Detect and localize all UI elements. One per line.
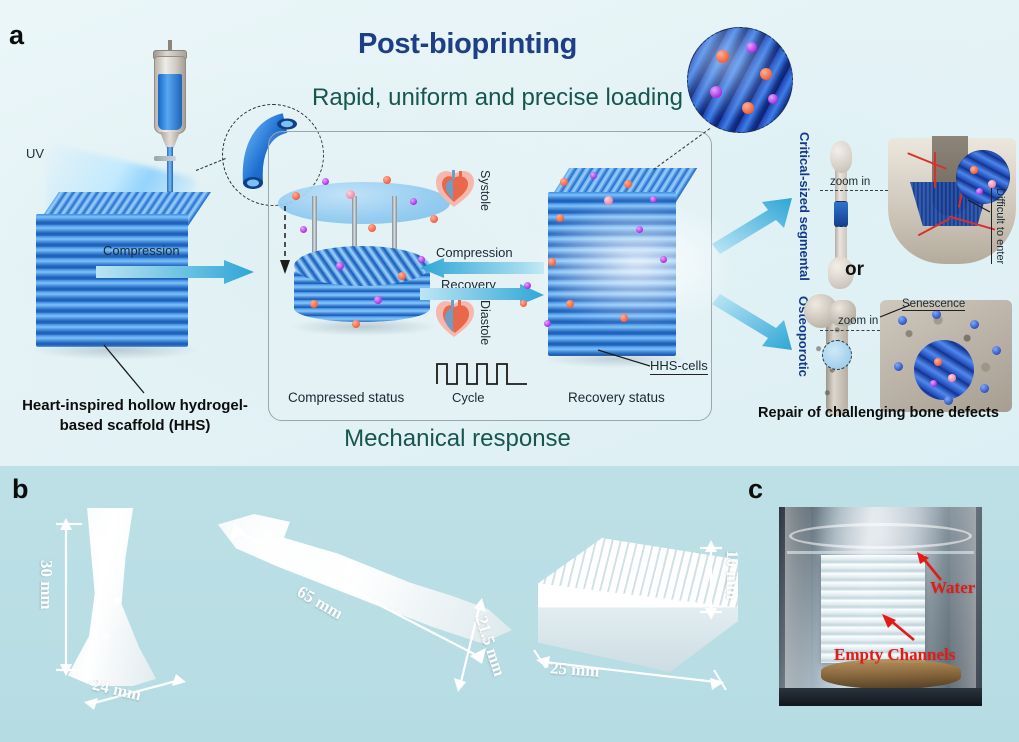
cell-marker bbox=[410, 198, 417, 205]
compression-label-left: Compression bbox=[103, 243, 180, 258]
cell-marker bbox=[930, 380, 937, 387]
cell-marker bbox=[768, 94, 778, 104]
dimension-arrow-tibia-height bbox=[56, 518, 76, 676]
scaffold-recovery bbox=[548, 168, 676, 356]
figure-root: a Post-bioprinting Rapid, uniform and pr… bbox=[0, 0, 1019, 742]
zoom-in-label-1: zoom in bbox=[830, 176, 870, 188]
cell-marker bbox=[300, 226, 307, 233]
arrow-to-osteoporotic-defect bbox=[710, 298, 796, 354]
cell-marker bbox=[352, 320, 360, 328]
compressed-status-label: Compressed status bbox=[288, 390, 404, 405]
cell-marker bbox=[560, 178, 568, 186]
dimension-label-cube-width: 25 mm bbox=[549, 658, 600, 681]
cell-marker bbox=[746, 42, 757, 53]
hhs-scaffold-caption: Heart-inspired hollow hydrogel- based sc… bbox=[6, 396, 264, 435]
cell-marker bbox=[398, 272, 406, 280]
cell-marker bbox=[292, 192, 300, 200]
cell-marker bbox=[988, 180, 996, 188]
cell-marker bbox=[310, 300, 318, 308]
difficult-to-enter-label: Difficult to enter bbox=[991, 188, 1006, 264]
osteoporotic-femur-icon bbox=[800, 292, 862, 418]
zoom-in-label-2: zoom in bbox=[838, 315, 878, 327]
scaffold-compressed-top bbox=[294, 246, 430, 286]
cell-marker bbox=[368, 224, 376, 232]
cell-marker bbox=[934, 358, 942, 366]
scaffold-compressed bbox=[294, 246, 430, 336]
water-annotation: Water bbox=[930, 578, 975, 598]
hhs-caption-line-1: Heart-inspired hollow hydrogel- bbox=[22, 397, 248, 414]
photo-base-shadow bbox=[779, 688, 982, 706]
printer-bioink bbox=[158, 74, 182, 130]
scaffold-shadow bbox=[290, 318, 438, 336]
hhs-caption-line-2: based scaffold (HHS) bbox=[60, 417, 211, 434]
beaker-photo bbox=[779, 507, 982, 706]
empty-channels-pointer-arrow bbox=[880, 614, 922, 646]
empty-channels-annotation: Empty Channels bbox=[834, 645, 955, 665]
compression-arrow-left bbox=[96, 260, 256, 286]
dimension-arrow-cube-height bbox=[700, 540, 722, 620]
cell-marker bbox=[548, 258, 556, 266]
cycle-label: Cycle bbox=[452, 390, 485, 405]
bioprinter-nozzle-icon bbox=[140, 40, 200, 215]
senescent-cell bbox=[932, 310, 941, 319]
dimension-label-tibia-height: 30 mm bbox=[36, 560, 56, 610]
cell-zoom-circle bbox=[687, 27, 793, 133]
cell-marker bbox=[604, 196, 613, 205]
repair-caption: Repair of challenging bone defects bbox=[738, 405, 1019, 421]
cell-marker bbox=[556, 214, 564, 222]
cell-marker bbox=[590, 172, 597, 179]
systole-label: Systole bbox=[478, 170, 492, 211]
cell-marker bbox=[544, 320, 551, 327]
cell-marker bbox=[374, 296, 382, 304]
cell-marker bbox=[976, 188, 983, 195]
cell-marker bbox=[524, 282, 531, 289]
cell-marker bbox=[650, 196, 657, 203]
cell-marker bbox=[760, 68, 772, 80]
hhs-caption-leader bbox=[100, 345, 180, 401]
cell-marker bbox=[742, 102, 754, 114]
cell-marker bbox=[624, 180, 632, 188]
recovery-status-label: Recovery status bbox=[568, 390, 665, 405]
critical-sized-label: Critical-sized segmental bbox=[796, 132, 811, 281]
panel-letter-c: c bbox=[748, 474, 763, 505]
implant-cell-zoom-circle bbox=[914, 340, 974, 400]
cell-marker bbox=[636, 226, 643, 233]
cell-marker bbox=[430, 215, 438, 223]
hhs-cells-label: HHS-cells bbox=[650, 358, 708, 375]
beaker-rim bbox=[789, 523, 972, 549]
bone-head-top bbox=[830, 141, 852, 173]
arrow-to-critical-defect bbox=[710, 196, 796, 252]
senescent-cell bbox=[992, 346, 1001, 355]
scaffold-front-face bbox=[548, 192, 676, 356]
cell-marker bbox=[322, 178, 329, 185]
heart-systole-icon bbox=[432, 166, 478, 210]
cell-marker bbox=[336, 262, 344, 270]
dimension-arrow-femur-length bbox=[228, 524, 490, 666]
or-label: or bbox=[845, 259, 864, 281]
panel-a: a Post-bioprinting Rapid, uniform and pr… bbox=[0, 0, 1019, 466]
cell-marker bbox=[948, 374, 956, 382]
cell-marker bbox=[346, 190, 355, 199]
femur-defect-site bbox=[822, 340, 852, 370]
printer-valve bbox=[154, 156, 176, 161]
senescent-cell bbox=[970, 320, 979, 329]
cell-marker bbox=[970, 166, 978, 174]
cell-suspension-plate bbox=[278, 182, 450, 224]
cell-marker bbox=[620, 314, 628, 322]
compression-direction-arrow bbox=[279, 206, 293, 276]
senescence-label: Senescence bbox=[902, 298, 965, 311]
cell-marker bbox=[520, 300, 527, 307]
printer-cone bbox=[160, 132, 180, 148]
senescent-cell bbox=[894, 362, 903, 371]
cell-marker bbox=[716, 50, 729, 63]
uv-label: UV bbox=[26, 146, 44, 161]
printer-needle bbox=[167, 147, 173, 193]
bone-defect-site bbox=[834, 201, 848, 227]
blood-vessel bbox=[934, 152, 936, 188]
senescent-cell bbox=[980, 384, 989, 393]
cell-marker bbox=[566, 300, 574, 308]
panel-letter-b: b bbox=[12, 474, 29, 505]
cell-marker bbox=[660, 256, 667, 263]
senescent-cell bbox=[944, 396, 953, 405]
cell-marker bbox=[710, 86, 722, 98]
zoom-in-line-1 bbox=[820, 190, 888, 191]
zoom-in-line-2 bbox=[820, 330, 880, 331]
cell-zoom-sheen bbox=[688, 28, 792, 132]
cycle-waveform-icon bbox=[435, 358, 531, 388]
cell-marker bbox=[383, 176, 391, 184]
